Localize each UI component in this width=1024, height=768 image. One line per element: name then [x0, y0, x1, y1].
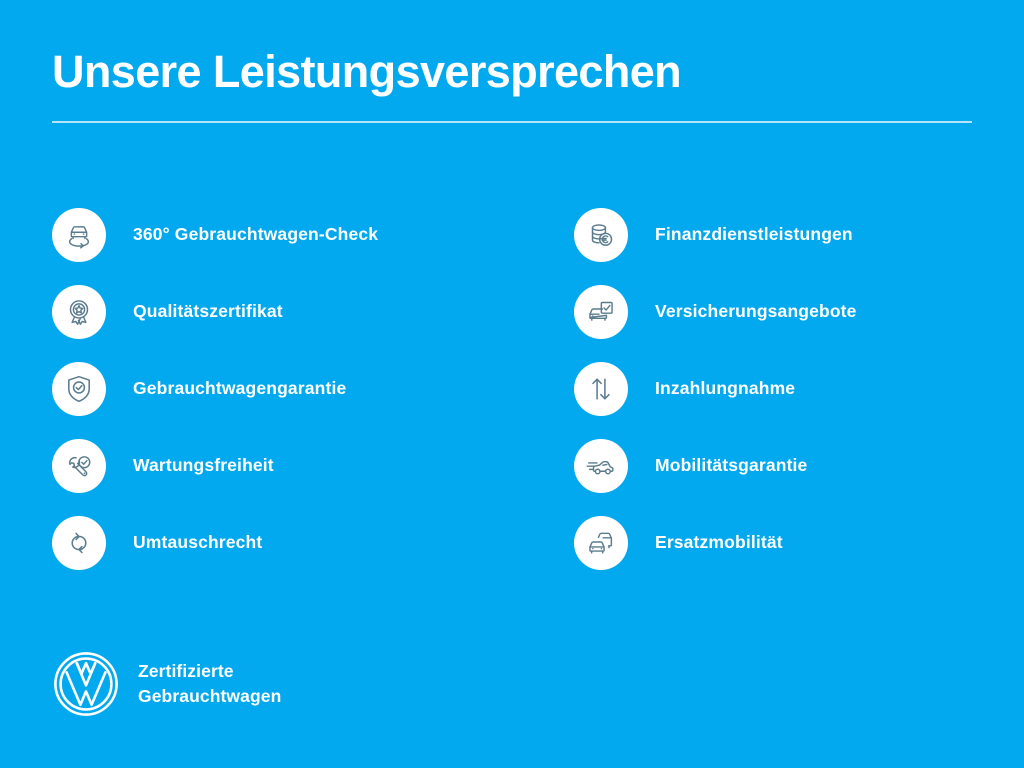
benefits-grid: 360° Gebrauchtwagen-Check Qualitätszerti…: [0, 196, 1024, 581]
benefit-item-qualitaetszertifikat[interactable]: Qualitätszertifikat: [52, 273, 522, 350]
benefit-label: Versicherungsangebote: [655, 301, 857, 322]
benefit-item-umtauschrecht[interactable]: Umtauschrecht: [52, 504, 522, 581]
brand-line-1: Zertifizierte: [138, 659, 281, 684]
car-document-check-icon: [574, 285, 628, 339]
benefit-item-wartungsfreiheit[interactable]: Wartungsfreiheit: [52, 427, 522, 504]
award-rosette-icon: [52, 285, 106, 339]
benefit-item-gebrauchtwagengarantie[interactable]: Gebrauchtwagengarantie: [52, 350, 522, 427]
brand-lockup: Zertifizierte Gebrauchtwagen: [52, 650, 281, 718]
benefit-label: Inzahlungnahme: [655, 378, 795, 399]
two-cars-icon: [574, 516, 628, 570]
volkswagen-logo: [52, 650, 120, 718]
benefit-item-mobilitaetsgarantie[interactable]: Mobilitätsgarantie: [574, 427, 994, 504]
benefit-item-versicherungsangebote[interactable]: Versicherungsangebote: [574, 273, 994, 350]
coins-euro-icon: [574, 208, 628, 262]
arrows-up-down-icon: [574, 362, 628, 416]
brand-line-2: Gebrauchtwagen: [138, 684, 281, 709]
benefit-label: Mobilitätsgarantie: [655, 455, 807, 476]
title-divider: [52, 121, 972, 123]
benefit-label: 360° Gebrauchtwagen-Check: [133, 224, 378, 245]
benefits-left-column: 360° Gebrauchtwagen-Check Qualitätszerti…: [52, 196, 522, 581]
benefit-label: Wartungsfreiheit: [133, 455, 274, 476]
benefits-right-column: Finanzdienstleistungen Versicherungsange…: [574, 196, 994, 581]
benefit-label: Qualitätszertifikat: [133, 301, 283, 322]
promise-panel: Unsere Leistungsversprechen: [0, 0, 1024, 768]
car-motion-icon: [574, 439, 628, 493]
brand-text: Zertifizierte Gebrauchtwagen: [138, 659, 281, 710]
wrench-check-icon: [52, 439, 106, 493]
benefit-label: Gebrauchtwagengarantie: [133, 378, 346, 399]
benefit-item-inzahlungnahme[interactable]: Inzahlungnahme: [574, 350, 994, 427]
header: Unsere Leistungsversprechen: [52, 48, 972, 123]
benefit-item-finanzdienstleistungen[interactable]: Finanzdienstleistungen: [574, 196, 994, 273]
shield-check-icon: [52, 362, 106, 416]
benefit-label: Finanzdienstleistungen: [655, 224, 853, 245]
benefit-label: Ersatzmobilität: [655, 532, 783, 553]
car-360-check-icon: [52, 208, 106, 262]
exchange-arrows-icon: [52, 516, 106, 570]
benefit-item-360-check[interactable]: 360° Gebrauchtwagen-Check: [52, 196, 522, 273]
benefit-item-ersatzmobilitaet[interactable]: Ersatzmobilität: [574, 504, 994, 581]
benefit-label: Umtauschrecht: [133, 532, 262, 553]
page-title: Unsere Leistungsversprechen: [52, 48, 972, 95]
